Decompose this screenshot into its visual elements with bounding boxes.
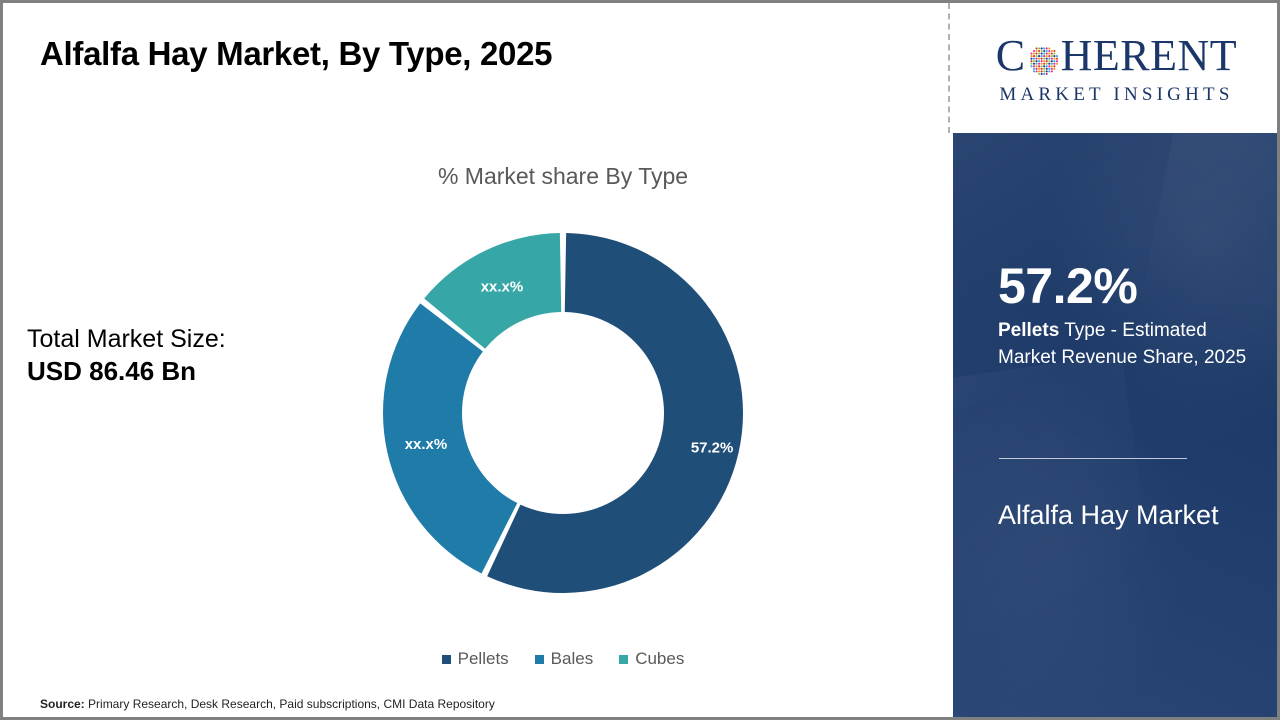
- donut-chart: 57.2%xx.x%xx.x%: [381, 231, 745, 595]
- globe-dot: [1035, 55, 1037, 57]
- globe-dot: [1053, 63, 1055, 65]
- globe-dot: [1033, 52, 1035, 54]
- legend-item[interactable]: Cubes: [619, 649, 684, 669]
- globe-dot: [1048, 47, 1050, 49]
- globe-dot: [1045, 50, 1047, 52]
- legend-label: Cubes: [635, 649, 684, 669]
- globe-dot: [1038, 47, 1040, 49]
- legend-swatch-icon: [535, 655, 544, 664]
- globe-dot: [1045, 63, 1047, 65]
- globe-dot: [1033, 65, 1035, 67]
- globe-dot: [1053, 58, 1055, 60]
- globe-dot: [1045, 55, 1047, 57]
- globe-dot: [1040, 58, 1042, 60]
- globe-dot: [1048, 52, 1050, 54]
- legend-label: Bales: [551, 649, 594, 669]
- globe-dot: [1043, 73, 1045, 75]
- globe-dot: [1030, 63, 1032, 65]
- globe-dot: [1030, 52, 1032, 54]
- globe-dot: [1045, 52, 1047, 54]
- globe-dot: [1035, 60, 1037, 62]
- globe-dot: [1048, 70, 1050, 72]
- globe-dot: [1045, 68, 1047, 70]
- globe-dot: [1038, 70, 1040, 72]
- source-label: Source:: [40, 697, 85, 711]
- globe-dot: [1053, 60, 1055, 62]
- globe-dot: [1050, 50, 1052, 52]
- globe-icon-svg: [1027, 44, 1060, 77]
- globe-dot: [1043, 65, 1045, 67]
- globe-dot: [1035, 65, 1037, 67]
- globe-dot: [1030, 55, 1032, 57]
- globe-dot: [1043, 52, 1045, 54]
- globe-dot: [1040, 68, 1042, 70]
- globe-dot: [1033, 70, 1035, 72]
- globe-dot: [1050, 55, 1052, 57]
- globe-dot: [1053, 52, 1055, 54]
- globe-dot: [1033, 50, 1035, 52]
- globe-dot: [1043, 47, 1045, 49]
- globe-dot: [1045, 73, 1047, 75]
- globe-dot: [1038, 68, 1040, 70]
- globe-dot: [1038, 50, 1040, 52]
- globe-dot: [1056, 55, 1058, 57]
- source-note: Source: Primary Research, Desk Research,…: [40, 697, 495, 711]
- brand-letter-c: C: [996, 34, 1026, 78]
- globe-icon: [1027, 41, 1060, 74]
- globe-dot: [1033, 68, 1035, 70]
- globe-dot: [1053, 55, 1055, 57]
- globe-dot: [1040, 47, 1042, 49]
- highlight-description: Pellets Type - Estimated Market Revenue …: [998, 318, 1250, 372]
- globe-dot: [1056, 63, 1058, 65]
- globe-dot: [1048, 58, 1050, 60]
- legend-item[interactable]: Pellets: [442, 649, 509, 669]
- chart-content-area: Alfalfa Hay Market, By Type, 2025 % Mark…: [3, 3, 948, 717]
- globe-dot: [1030, 60, 1032, 62]
- page-title: Alfalfa Hay Market, By Type, 2025: [40, 35, 552, 73]
- donut-chart-svg: 57.2%xx.x%xx.x%: [381, 231, 745, 595]
- globe-dot: [1043, 68, 1045, 70]
- brand-wordmark: C HERENT: [996, 34, 1237, 78]
- globe-dot: [1038, 60, 1040, 62]
- brand-tagline: MARKET INSIGHTS: [999, 84, 1233, 106]
- globe-dot: [1043, 60, 1045, 62]
- globe-dot: [1050, 58, 1052, 60]
- globe-dot: [1035, 50, 1037, 52]
- globe-dot: [1045, 65, 1047, 67]
- globe-dot: [1048, 68, 1050, 70]
- globe-dot: [1038, 63, 1040, 65]
- globe-dot: [1040, 63, 1042, 65]
- globe-dot: [1045, 58, 1047, 60]
- globe-dot: [1035, 68, 1037, 70]
- globe-dot: [1035, 52, 1037, 54]
- donut-slices: [383, 233, 743, 593]
- globe-dot: [1035, 58, 1037, 60]
- legend-swatch-icon: [619, 655, 628, 664]
- globe-dot: [1038, 58, 1040, 60]
- highlight-stat: 57.2% Pellets Type - Estimated Market Re…: [998, 261, 1250, 372]
- globe-dot: [1053, 68, 1055, 70]
- sidebar-market-name: Alfalfa Hay Market: [998, 496, 1248, 535]
- globe-dot: [1040, 60, 1042, 62]
- donut-slice-label: xx.x%: [481, 278, 524, 295]
- globe-dot: [1043, 50, 1045, 52]
- globe-dot: [1030, 58, 1032, 60]
- globe-dot: [1043, 70, 1045, 72]
- brand-logo: C HERENT MARKET INSIGHTS: [953, 6, 1280, 133]
- globe-dot: [1040, 65, 1042, 67]
- globe-dot: [1053, 50, 1055, 52]
- globe-dot: [1038, 52, 1040, 54]
- globe-dot: [1033, 55, 1035, 57]
- globe-dot: [1050, 60, 1052, 62]
- globe-dot: [1040, 73, 1042, 75]
- globe-dot: [1040, 50, 1042, 52]
- globe-dot: [1056, 60, 1058, 62]
- globe-dot: [1050, 68, 1052, 70]
- globe-dot: [1038, 73, 1040, 75]
- highlight-segment-name: Pellets: [998, 320, 1059, 341]
- donut-slice-label: 57.2%: [691, 439, 734, 456]
- infographic-page: Alfalfa Hay Market, By Type, 2025 % Mark…: [0, 0, 1280, 720]
- brand-letters-herent: HERENT: [1061, 34, 1238, 78]
- globe-dot: [1033, 63, 1035, 65]
- globe-dot: [1040, 55, 1042, 57]
- globe-dot: [1050, 65, 1052, 67]
- globe-dot: [1040, 52, 1042, 54]
- panel-divider: [948, 3, 950, 133]
- globe-dot: [1048, 65, 1050, 67]
- globe-dot: [1035, 47, 1037, 49]
- donut-slice-label: xx.x%: [405, 436, 448, 453]
- globe-dot: [1056, 58, 1058, 60]
- globe-dot: [1043, 58, 1045, 60]
- globe-dot: [1040, 70, 1042, 72]
- highlight-percent: 57.2%: [998, 261, 1250, 312]
- donut-slice[interactable]: [383, 303, 517, 573]
- globe-dot: [1030, 65, 1032, 67]
- highlight-sidebar: 57.2% Pellets Type - Estimated Market Re…: [953, 133, 1280, 720]
- source-text: Primary Research, Desk Research, Paid su…: [85, 697, 495, 711]
- total-market-size-label: Total Market Size:: [27, 325, 327, 355]
- globe-dot: [1048, 60, 1050, 62]
- globe-dot: [1048, 50, 1050, 52]
- globe-dot: [1045, 70, 1047, 72]
- globe-dot: [1035, 63, 1037, 65]
- globe-dot: [1045, 47, 1047, 49]
- globe-dot: [1033, 60, 1035, 62]
- globe-dot: [1045, 60, 1047, 62]
- globe-dot: [1050, 70, 1052, 72]
- globe-dot: [1053, 65, 1055, 67]
- globe-dot: [1050, 52, 1052, 54]
- globe-dot: [1048, 55, 1050, 57]
- globe-dot: [1050, 63, 1052, 65]
- globe-dot: [1048, 63, 1050, 65]
- globe-dot: [1035, 70, 1037, 72]
- legend-item[interactable]: Bales: [535, 649, 594, 669]
- total-market-size-value: USD 86.46 Bn: [27, 355, 327, 389]
- legend-label: Pellets: [458, 649, 509, 669]
- globe-dot: [1038, 65, 1040, 67]
- globe-dot: [1033, 58, 1035, 60]
- total-market-size: Total Market Size: USD 86.46 Bn: [27, 325, 327, 388]
- globe-dot: [1038, 55, 1040, 57]
- sidebar-divider: [999, 458, 1187, 459]
- legend-swatch-icon: [442, 655, 451, 664]
- globe-dot: [1043, 55, 1045, 57]
- globe-dot: [1043, 63, 1045, 65]
